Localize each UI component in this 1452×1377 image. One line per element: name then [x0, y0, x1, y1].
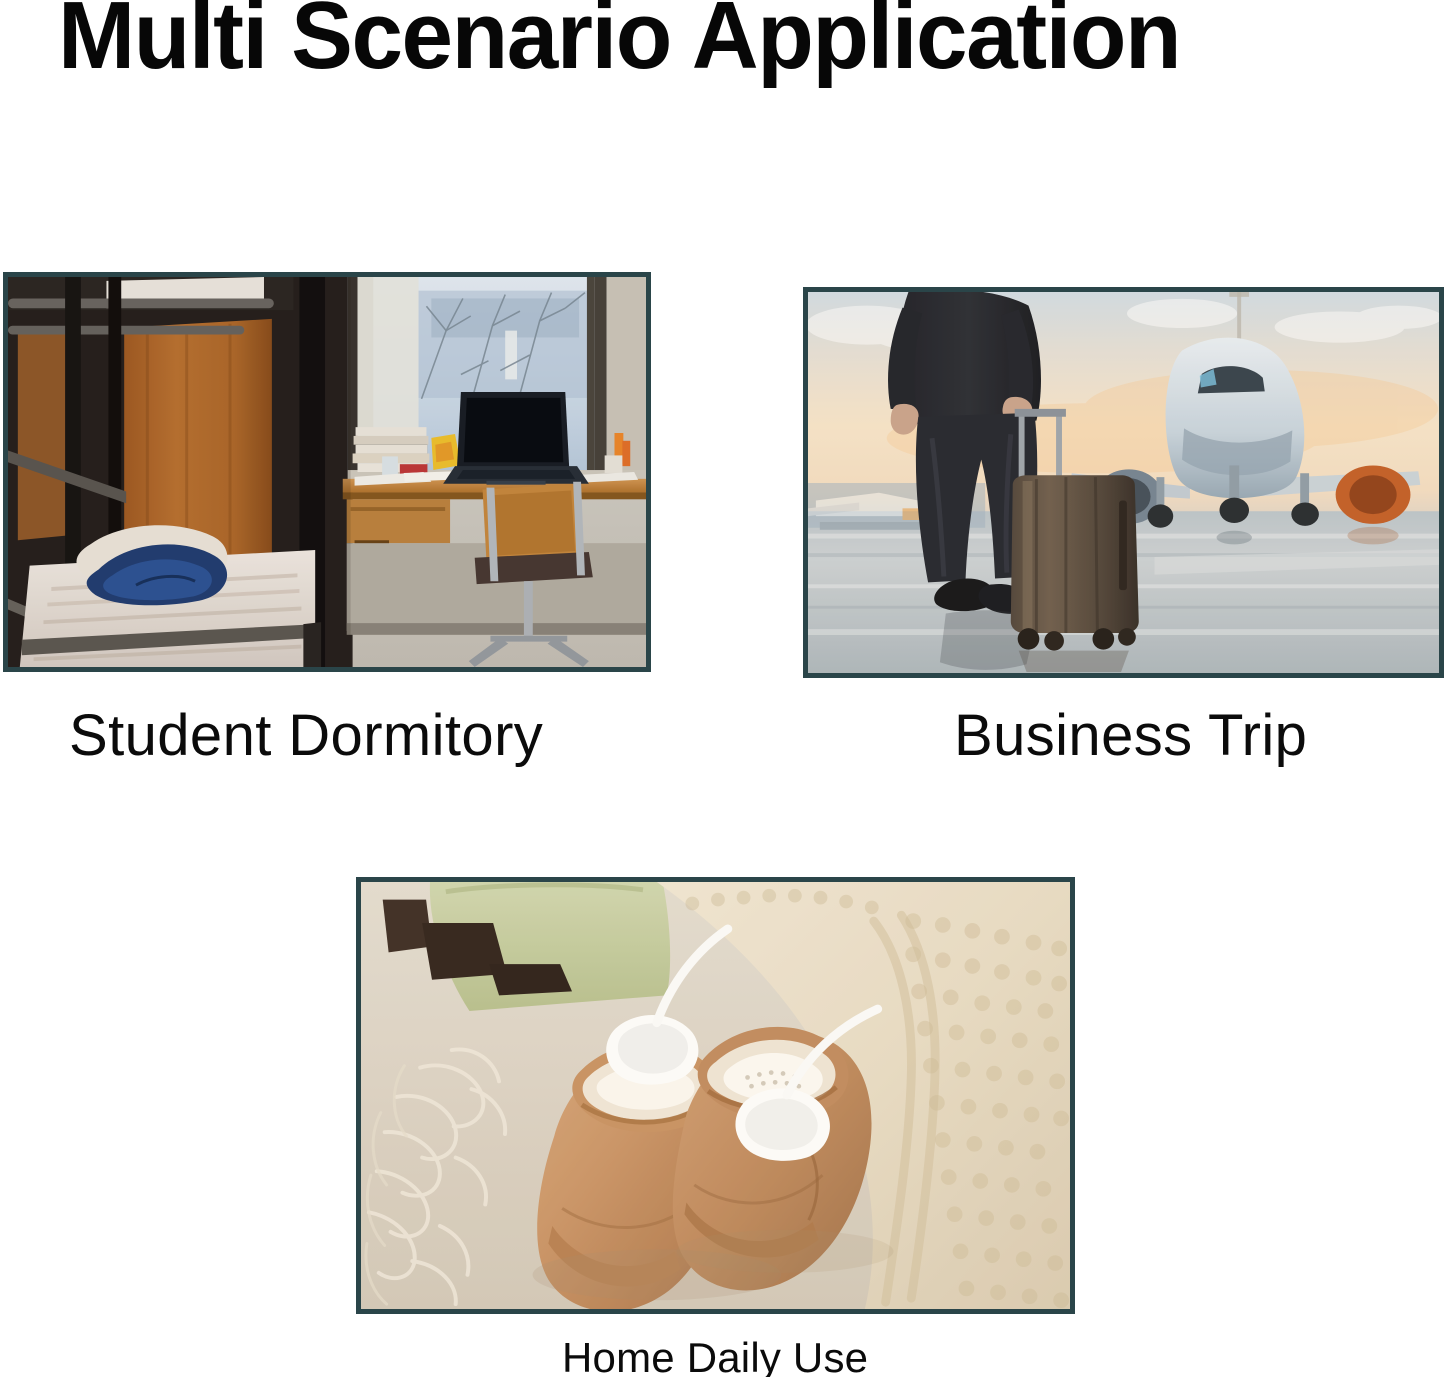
scenario-caption-student-dormitory: Student Dormitory [69, 707, 543, 765]
page-title: Multi Scenario Application [58, 0, 1180, 84]
scenario-image-business-trip [803, 287, 1444, 678]
scenario-image-home-daily-use [356, 877, 1075, 1314]
infographic-page: Multi Scenario Application [0, 0, 1452, 1377]
scenario-caption-business-trip: Business Trip [954, 707, 1307, 765]
scenario-image-student-dormitory [3, 272, 651, 672]
scenario-caption-home-daily-use: Home Daily Use [562, 1337, 868, 1377]
